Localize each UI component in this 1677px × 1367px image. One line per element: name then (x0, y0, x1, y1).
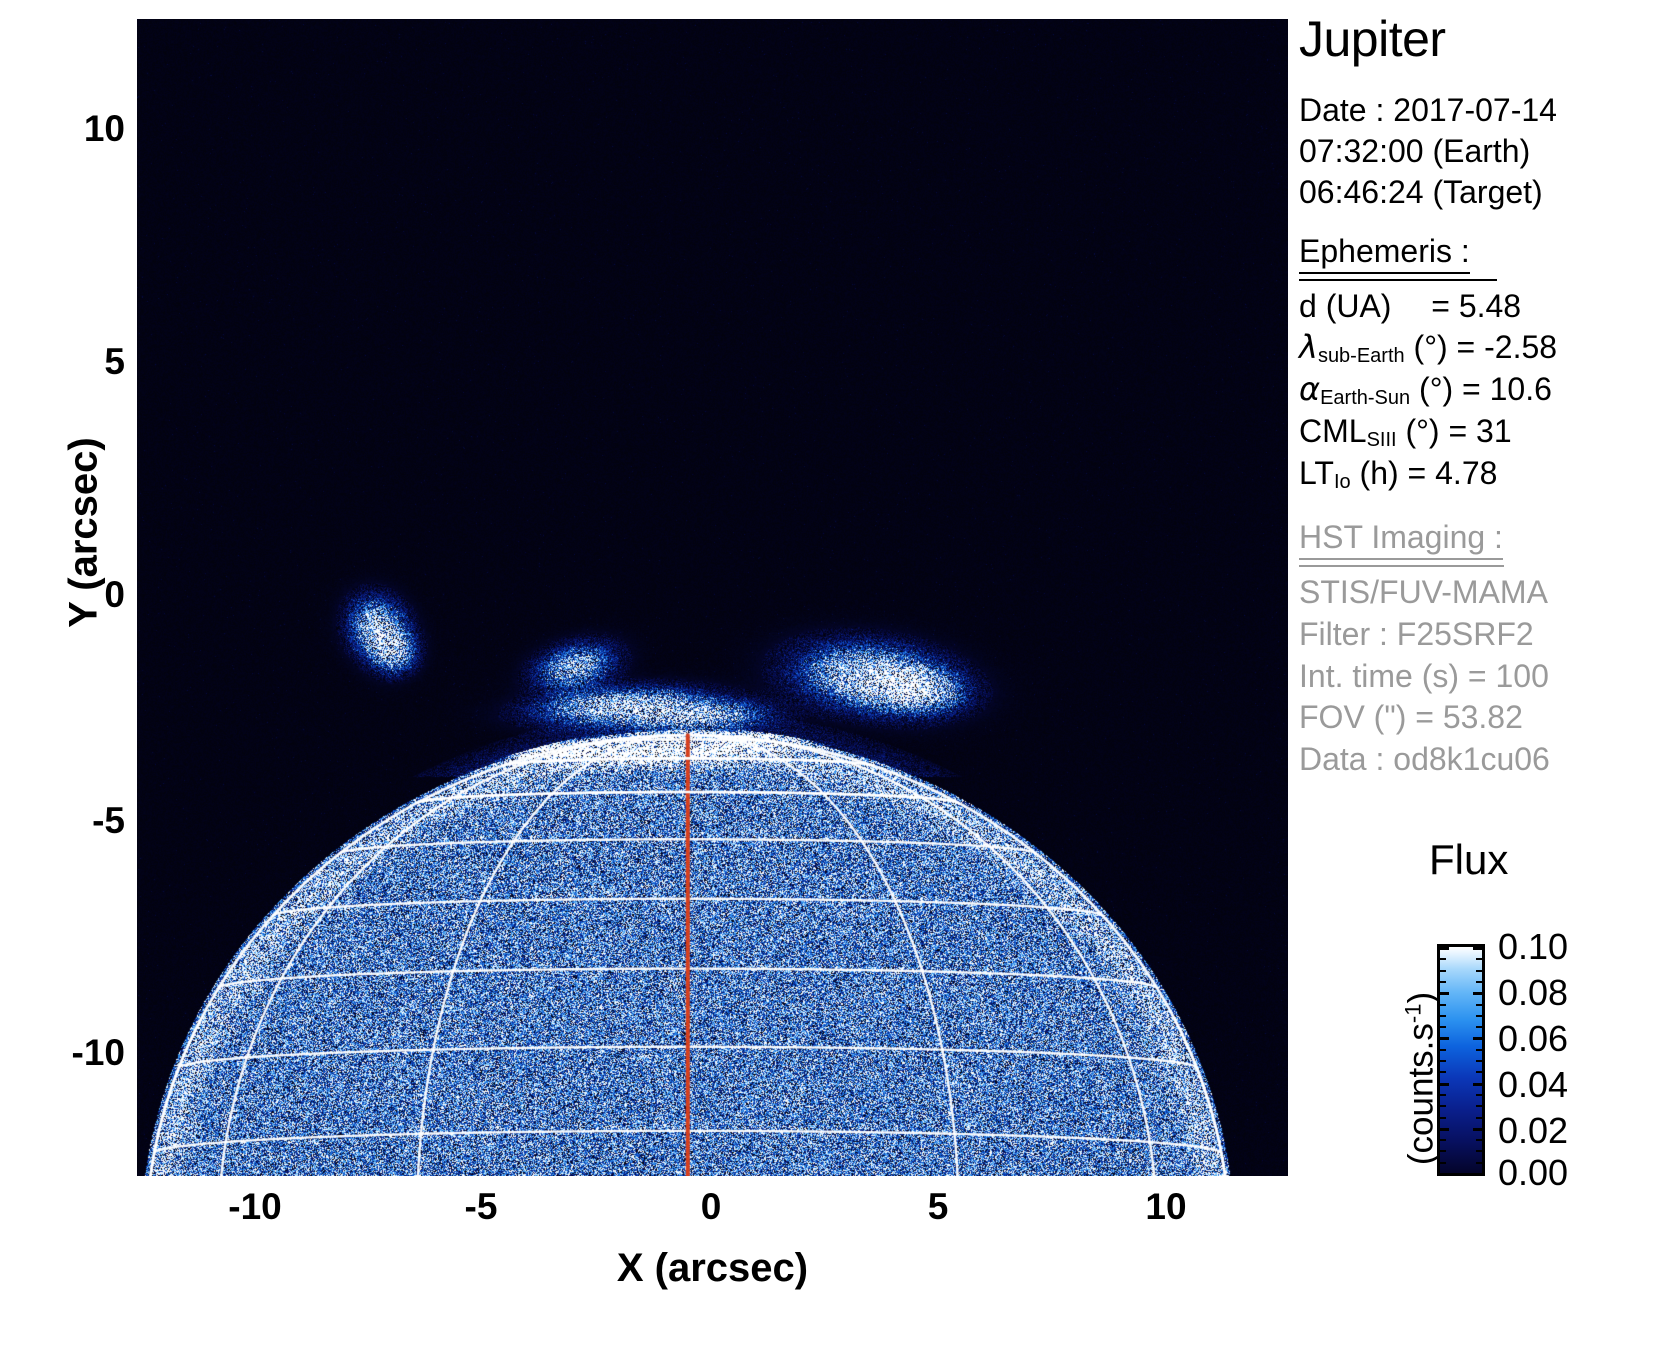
figure-root: 10 5 0 -5 -10 -10 -5 0 5 10 Y (arcsec) X… (0, 0, 1677, 1367)
aurora-image-plot[interactable] (137, 19, 1288, 1176)
colorbar-tick (1473, 1173, 1482, 1176)
colorbar-tick-label: 0.06 (1498, 1018, 1568, 1060)
colorbar-tick (1473, 1037, 1482, 1040)
x-tick-label: -5 (465, 1186, 498, 1228)
ephemeris-row-phase-angle: αEarth-Sun (°) = 10.6 (1299, 369, 1677, 411)
ephemeris-row-phase-angle-unit: (°) (1419, 371, 1453, 407)
colorbar-minor-tick (1476, 958, 1482, 960)
colorbar-tick-label: 0.00 (1498, 1152, 1568, 1194)
colorbar-tick-label: 0.10 (1498, 926, 1568, 968)
colorbar-minor-tick (1476, 1139, 1482, 1141)
ephemeris-row-io-local-time-unit: (h) (1360, 455, 1399, 491)
colorbar-tick (1473, 992, 1482, 995)
ephemeris-row-cml-name: CML (1299, 413, 1367, 449)
x-axis-label: X (arcsec) (137, 1246, 1288, 1291)
hst-dataset-id: Data : od8k1cu06 (1299, 739, 1677, 781)
info-panel: Jupiter Date : 2017-07-14 07:32:00 (Eart… (1299, 14, 1677, 780)
y-tick-label: -5 (0, 800, 125, 842)
colorbar-minor-tick (1476, 1026, 1482, 1028)
ephemeris-row-io-local-time-value: = 4.78 (1408, 455, 1498, 491)
ephemeris-block: Ephemeris : d (UA) = 5.48 λsub-Earth (°)… (1299, 233, 1677, 496)
colorbar-tick (1473, 1128, 1482, 1131)
colorbar-minor-tick (1476, 1094, 1482, 1096)
colorbar-minor-tick (1476, 1004, 1482, 1006)
colorbar-tick (1473, 1083, 1482, 1086)
ephemeris-row-cml-sub: SIII (1367, 429, 1397, 451)
colorbar-tick-label: 0.04 (1498, 1064, 1568, 1106)
hst-field-of-view: FOV (") = 53.82 (1299, 697, 1677, 739)
colorbar-unit-main: (counts.s (1402, 1023, 1441, 1165)
lambda-symbol: λ (1299, 328, 1318, 366)
y-tick-label: 10 (0, 108, 125, 150)
ephemeris-row-phase-angle-sub: Earth-Sun (1320, 387, 1410, 409)
colorbar-tick (1473, 947, 1482, 950)
ephemeris-row-sub-earth-lat: λsub-Earth (°) = -2.58 (1299, 327, 1677, 369)
colorbar-minor-tick (1476, 981, 1482, 983)
x-tick-label: 10 (1145, 1186, 1186, 1228)
ephemeris-rule (1299, 279, 1497, 281)
x-tick-label: 0 (701, 1186, 722, 1228)
alpha-symbol: α (1299, 370, 1320, 408)
colorbar-minor-tick (1476, 1015, 1482, 1017)
ephemeris-row-io-local-time-name: LT (1299, 455, 1334, 491)
page-title: Jupiter (1299, 14, 1677, 64)
colorbar-minor-tick (1476, 1071, 1482, 1073)
ephemeris-row-cml: CMLSIII (°) = 31 (1299, 411, 1677, 453)
y-tick-label: -10 (0, 1032, 125, 1074)
y-axis-label: Y (arcsec) (62, 413, 107, 653)
ephemeris-row-cml-value: = 31 (1448, 413, 1511, 449)
colorbar-minor-tick (1476, 970, 1482, 972)
ephemeris-row-distance-value: = 5.48 (1431, 288, 1521, 324)
hst-imaging-rule (1299, 565, 1504, 567)
ephemeris-row-io-local-time-sub: Io (1334, 471, 1351, 493)
colorbar-minor-tick (1476, 1162, 1482, 1164)
colorbar-tick (1440, 947, 1449, 950)
colorbar-minor-tick (1476, 1150, 1482, 1152)
observation-date: Date : 2017-07-14 (1299, 90, 1677, 131)
colorbar[interactable] (1437, 944, 1485, 1176)
x-tick-label: -10 (228, 1186, 281, 1228)
colorbar-tick-label: 0.08 (1498, 972, 1568, 1014)
ephemeris-row-cml-unit: (°) (1405, 413, 1439, 449)
ephemeris-row-distance-name: d (UA) (1299, 288, 1391, 324)
colorbar-minor-tick (1476, 1060, 1482, 1062)
colorbar-unit-exponent: -1 (1401, 1004, 1426, 1024)
ephemeris-row-distance: d (UA) = 5.48 (1299, 286, 1677, 328)
jupiter-fuv-image-canvas (137, 19, 1288, 1176)
colorbar-unit-label: (counts.s-1) (1401, 954, 1442, 1204)
hst-imaging-heading: HST Imaging : (1299, 519, 1503, 560)
ephemeris-row-io-local-time: LTIo (h) = 4.78 (1299, 453, 1677, 495)
hst-instrument: STIS/FUV-MAMA (1299, 572, 1677, 614)
observation-time-earth: 07:32:00 (Earth) (1299, 131, 1677, 172)
colorbar-title: Flux (1429, 836, 1508, 884)
colorbar-tick-label: 0.02 (1498, 1110, 1568, 1152)
colorbar-minor-tick (1476, 1117, 1482, 1119)
observation-time-target: 06:46:24 (Target) (1299, 172, 1677, 213)
y-tick-label: 5 (0, 341, 125, 383)
hst-filter: Filter : F25SRF2 (1299, 614, 1677, 656)
colorbar-minor-tick (1476, 1049, 1482, 1051)
hst-integration-time: Int. time (s) = 100 (1299, 656, 1677, 698)
x-tick-label: 5 (928, 1186, 949, 1228)
ephemeris-row-sub-earth-lat-unit: (°) (1414, 329, 1448, 365)
colorbar-unit-close: ) (1402, 992, 1441, 1004)
colorbar-minor-tick (1476, 1105, 1482, 1107)
ephemeris-row-sub-earth-lat-value: = -2.58 (1457, 329, 1558, 365)
ephemeris-heading: Ephemeris : (1299, 233, 1470, 274)
ephemeris-row-phase-angle-value: = 10.6 (1462, 371, 1552, 407)
ephemeris-row-sub-earth-lat-sub: sub-Earth (1318, 345, 1405, 367)
hst-imaging-block: HST Imaging : STIS/FUV-MAMA Filter : F25… (1299, 519, 1677, 780)
